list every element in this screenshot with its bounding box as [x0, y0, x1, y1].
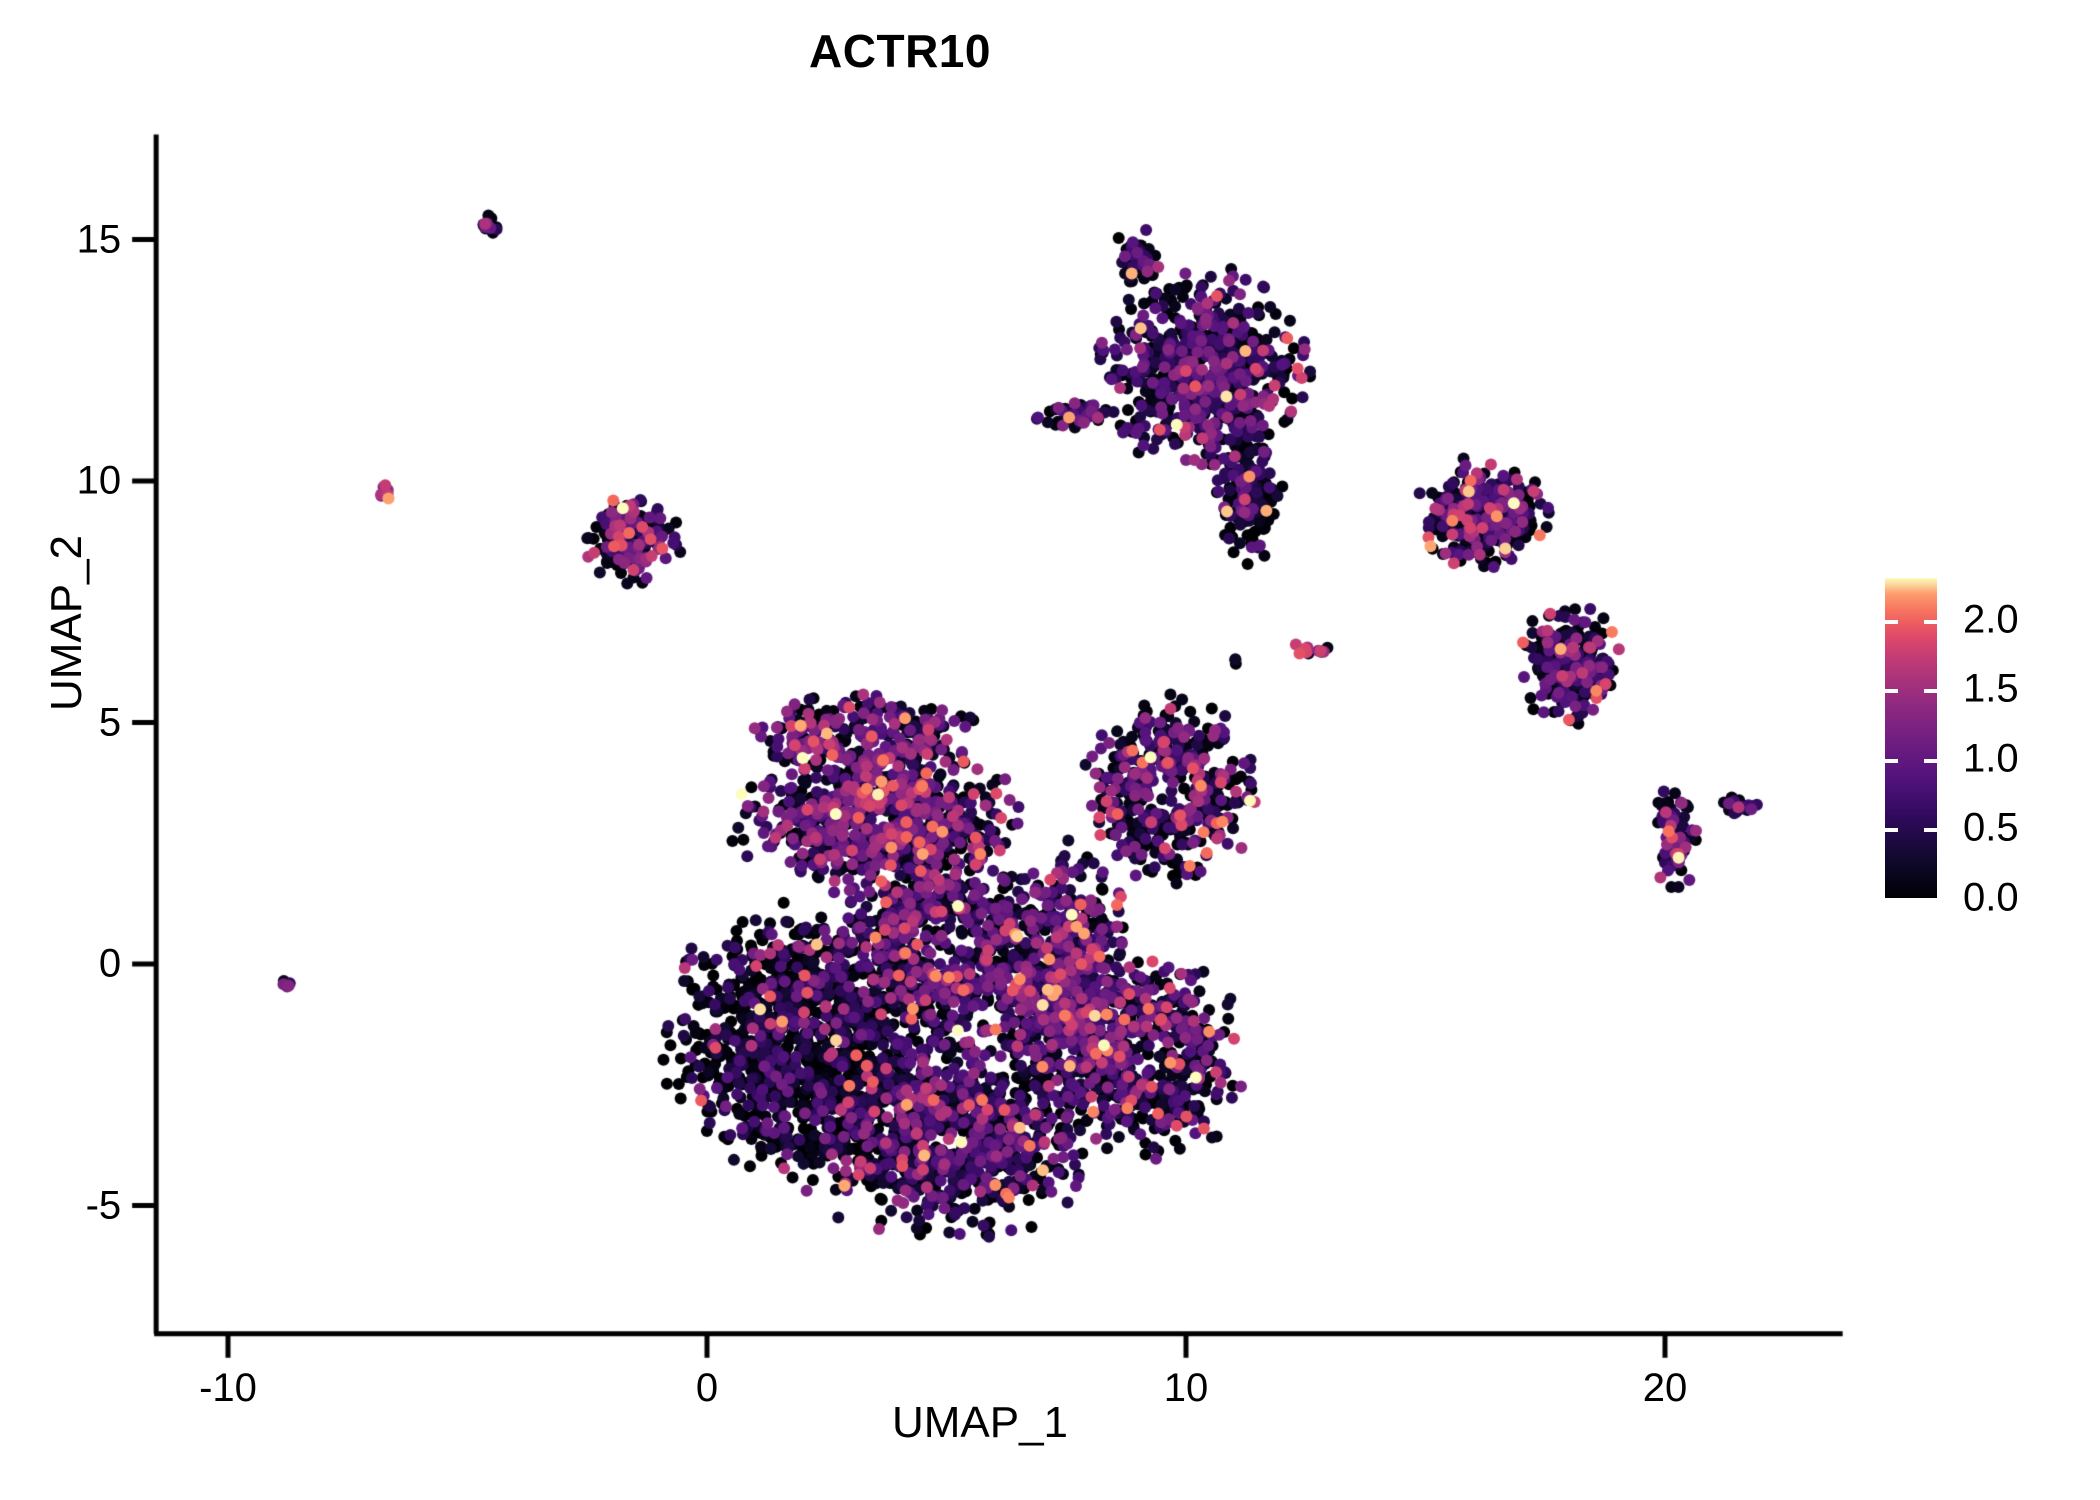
scatter-plot-canvas — [0, 0, 2100, 1500]
umap-feature-plot-figure: ACTR10 UMAP_1 UMAP_2 -1001020 -5051015 2… — [0, 0, 2100, 1500]
colorbar-tick-mark — [1885, 620, 1898, 624]
colorbar-tick-label: 0.0 — [1963, 876, 2019, 921]
y-axis-label: UMAP_2 — [42, 273, 92, 973]
x-tick-label: -10 — [199, 1366, 257, 1411]
colorbar-tick-mark — [1924, 898, 1937, 902]
y-tick-label: 5 — [16, 700, 121, 745]
colorbar-tick-label: 1.5 — [1963, 667, 2019, 712]
x-tick-label: 0 — [696, 1366, 718, 1411]
colorbar-gradient — [1885, 578, 1937, 898]
y-tick-label: 15 — [16, 217, 121, 262]
colorbar-tick-mark — [1885, 898, 1898, 902]
y-tick-label: -5 — [16, 1183, 121, 1228]
x-tick-label: 10 — [1164, 1366, 1209, 1411]
colorbar-tick-mark — [1924, 828, 1937, 832]
colorbar-tick-mark — [1924, 620, 1937, 624]
y-tick-label: 0 — [16, 942, 121, 987]
colorbar-tick-mark — [1885, 759, 1898, 763]
colorbar-tick-label: 2.0 — [1963, 597, 2019, 642]
colorbar-tick-mark — [1924, 689, 1937, 693]
x-axis-label: UMAP_1 — [200, 1398, 1760, 1448]
colorbar-tick-label: 1.0 — [1963, 736, 2019, 781]
x-tick-label: 20 — [1643, 1366, 1688, 1411]
colorbar-tick-mark — [1885, 689, 1898, 693]
colorbar-tick-mark — [1885, 828, 1898, 832]
colorbar-tick-mark — [1924, 759, 1937, 763]
colorbar-tick-label: 0.5 — [1963, 806, 2019, 851]
y-tick-label: 10 — [16, 459, 121, 504]
plot-canvas-wrapper — [0, 0, 2100, 1500]
